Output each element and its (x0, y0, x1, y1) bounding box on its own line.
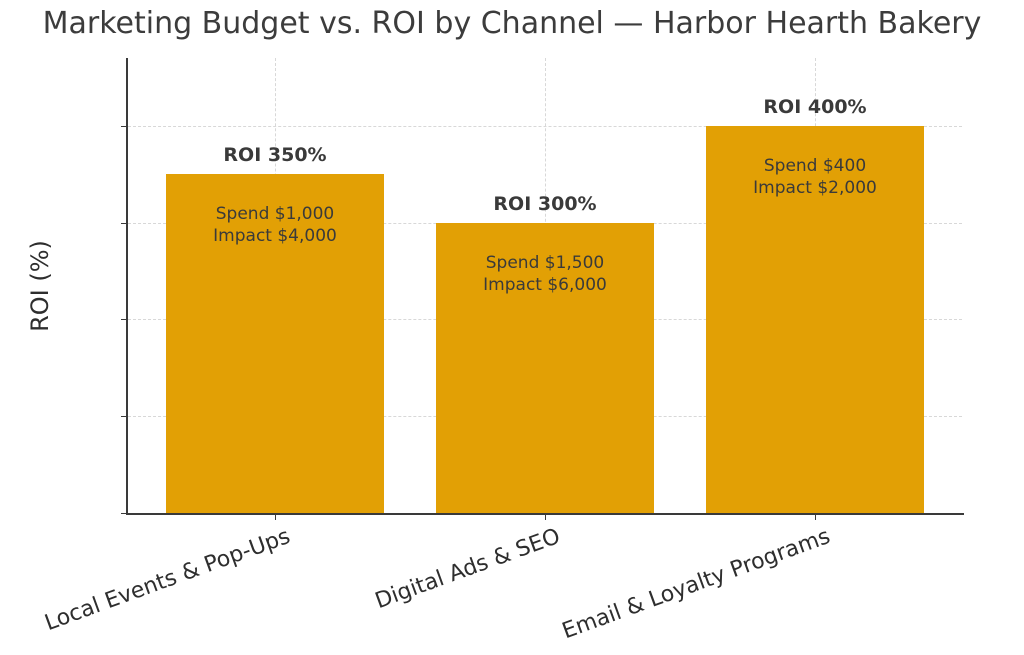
x-tick-label-local-events: Local Events & Pop-Ups (8, 524, 294, 648)
chart-figure: Marketing Budget vs. ROI by Channel — Ha… (0, 0, 1024, 628)
y-axis-label: ROI (%) (26, 240, 54, 332)
bar-detail-impact: Impact $2,000 (753, 178, 877, 200)
y-tick-mark-400 (121, 126, 128, 127)
bar-detail-spend: Spend $1,500 (483, 253, 607, 275)
chart-title: Marketing Budget vs. ROI by Channel — Ha… (0, 6, 1024, 41)
bar-value-label-email-loyalty: ROI 400% (763, 96, 866, 118)
bar-detail-email-loyalty: Spend $400 Impact $2,000 (753, 156, 877, 200)
x-tick-label-email-loyalty: Email & Loyalty Programs (529, 524, 834, 655)
bar-detail-digital-ads: Spend $1,500 Impact $6,000 (483, 253, 607, 297)
bar-value-label-local-events: ROI 350% (223, 144, 326, 166)
x-tick-label-digital-ads: Digital Ads & SEO (306, 524, 564, 638)
x-tick-mark-2 (545, 513, 546, 520)
y-tick-mark-200 (121, 319, 128, 320)
y-tick-mark-300 (121, 223, 128, 224)
x-tick-mark-3 (815, 513, 816, 520)
x-tick-mark-1 (275, 513, 276, 520)
bar-detail-local-events: Spend $1,000 Impact $4,000 (213, 204, 337, 248)
bar-detail-spend: Spend $1,000 (213, 204, 337, 226)
bar-detail-spend: Spend $400 (753, 156, 877, 178)
y-tick-mark-100 (121, 416, 128, 417)
bar-detail-impact: Impact $6,000 (483, 275, 607, 297)
y-tick-mark-0 (121, 513, 128, 514)
bar-detail-impact: Impact $4,000 (213, 226, 337, 248)
bar-value-label-digital-ads: ROI 300% (493, 193, 596, 215)
plot-area: 400 300 200 100 0 ROI 350% ROI 300% ROI … (128, 58, 962, 513)
